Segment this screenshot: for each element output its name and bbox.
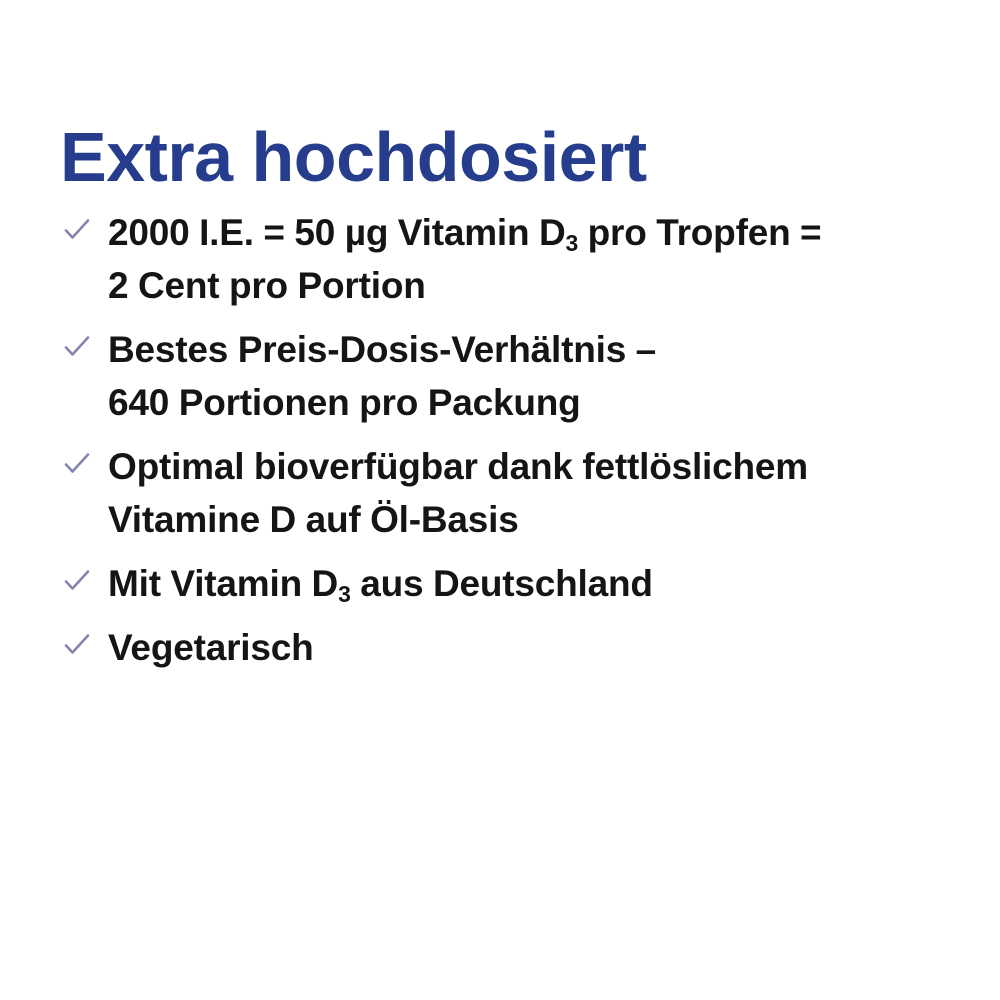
list-item: Vegetarisch <box>60 621 940 674</box>
check-icon <box>63 333 91 361</box>
list-item-text: Vegetarisch <box>108 621 940 674</box>
list-item-text: 2000 I.E. = 50 µg Vitamin D3 pro Tropfen… <box>108 206 940 312</box>
list-item-line-part: Mit Vitamin D <box>108 563 338 604</box>
slide-canvas: Extra hochdosiert 2000 I.E. = 50 µg Vita… <box>0 0 1000 1000</box>
list-item: 2000 I.E. = 50 µg Vitamin D3 pro Tropfen… <box>60 206 940 312</box>
list-item-text: Bestes Preis-Dosis-Verhältnis – 640 Port… <box>108 323 940 429</box>
list-item-line: 640 Portionen pro Packung <box>108 376 940 429</box>
list-item-line-part: pro Tropfen = <box>578 212 821 253</box>
list-item-line-part: Optimal bioverfügbar dank fettlöslichem <box>108 446 808 487</box>
list-item-line: Bestes Preis-Dosis-Verhältnis – <box>108 323 940 376</box>
page-title: Extra hochdosiert <box>60 119 940 195</box>
list-item-line: Mit Vitamin D3 aus Deutschland <box>108 557 940 610</box>
check-icon <box>63 450 91 478</box>
list-item-line: 2 Cent pro Portion <box>108 259 940 312</box>
check-icon <box>63 631 91 659</box>
list-item-text: Optimal bioverfügbar dank fettlöslichem … <box>108 440 940 546</box>
subscript-digit: 3 <box>565 230 578 256</box>
benefits-list: 2000 I.E. = 50 µg Vitamin D3 pro Tropfen… <box>60 206 940 674</box>
list-item-line-part: Bestes Preis-Dosis-Verhältnis – <box>108 329 656 370</box>
list-item-line: Vitamine D auf Öl-Basis <box>108 493 940 546</box>
list-item: Optimal bioverfügbar dank fettlöslichem … <box>60 440 940 546</box>
list-item-line-part: aus Deutschland <box>351 563 653 604</box>
list-item: Mit Vitamin D3 aus Deutschland <box>60 557 940 610</box>
list-item-line-part: 2000 I.E. = 50 µg Vitamin D <box>108 212 565 253</box>
list-item-text: Mit Vitamin D3 aus Deutschland <box>108 557 940 610</box>
list-item-line: Vegetarisch <box>108 621 940 674</box>
list-item-line: Optimal bioverfügbar dank fettlöslichem <box>108 440 940 493</box>
check-icon <box>63 216 91 244</box>
list-item-line-part: Vegetarisch <box>108 627 314 668</box>
list-item-line: 2000 I.E. = 50 µg Vitamin D3 pro Tropfen… <box>108 206 940 259</box>
subscript-digit: 3 <box>338 581 351 607</box>
list-item: Bestes Preis-Dosis-Verhältnis – 640 Port… <box>60 323 940 429</box>
check-icon <box>63 567 91 595</box>
